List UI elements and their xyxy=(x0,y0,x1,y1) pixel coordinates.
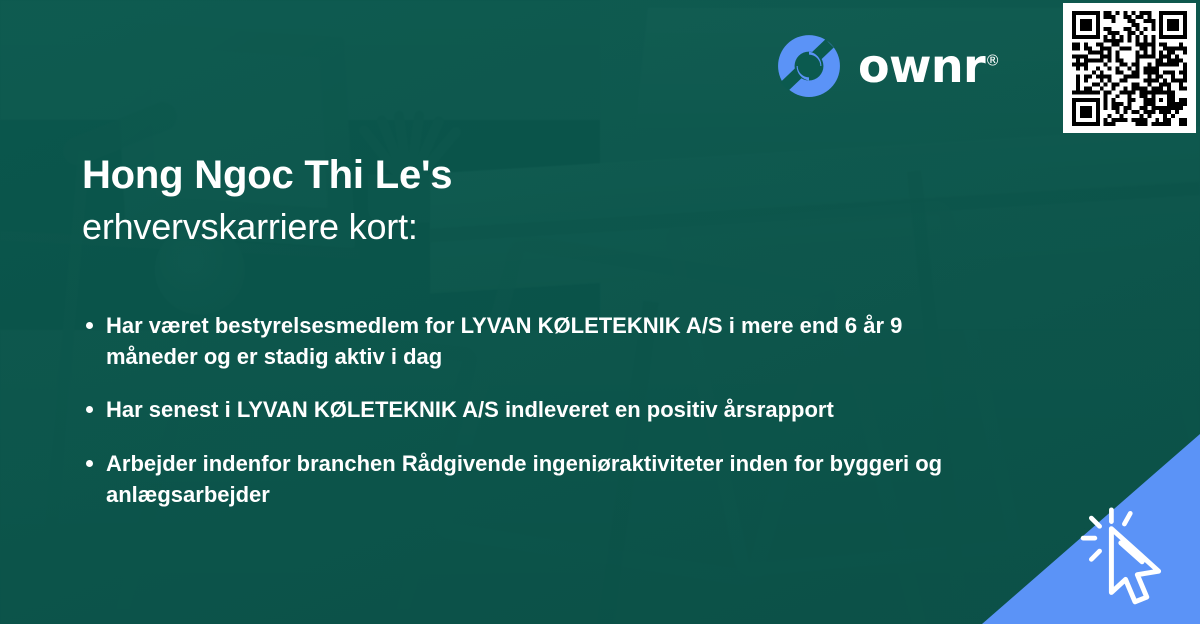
list-item-text: Har været bestyrelsesmedlem for LYVAN KØ… xyxy=(106,313,902,369)
list-item-text: Arbejder indenfor branchen Rådgivende in… xyxy=(106,451,942,507)
page-title: Hong Ngoc Thi Le's erhvervskarriere kort… xyxy=(82,152,1022,248)
ownr-wordmark-text: ownr xyxy=(858,39,985,93)
headline-subtitle: erhvervskarriere kort: xyxy=(82,205,1022,248)
bullet-dot-icon xyxy=(86,406,93,413)
bullet-dot-icon xyxy=(86,460,93,467)
qr-code[interactable] xyxy=(1063,3,1196,133)
click-cursor-icon xyxy=(1076,498,1194,616)
ownr-logo[interactable]: ownr® xyxy=(776,33,1000,99)
headline-name: Hong Ngoc Thi Le's xyxy=(82,152,1022,199)
list-item: Arbejder indenfor branchen Rådgivende in… xyxy=(82,448,982,510)
list-item: Har senest i LYVAN KØLETEKNIK A/S indlev… xyxy=(82,394,982,425)
career-fact-list: Har været bestyrelsesmedlem for LYVAN KØ… xyxy=(82,310,982,510)
list-item-text: Har senest i LYVAN KØLETEKNIK A/S indlev… xyxy=(106,397,834,422)
business-card-graphic: ownr® Hong Ngoc Thi Le's erhvervskarrier… xyxy=(0,0,1200,624)
qr-code-image xyxy=(1072,11,1187,126)
registered-trademark-symbol: ® xyxy=(985,52,1000,70)
ownr-wordmark: ownr® xyxy=(858,43,1000,89)
ownr-circular-logo-icon xyxy=(776,33,842,99)
bullet-dot-icon xyxy=(86,322,93,329)
list-item: Har været bestyrelsesmedlem for LYVAN KØ… xyxy=(82,310,982,372)
